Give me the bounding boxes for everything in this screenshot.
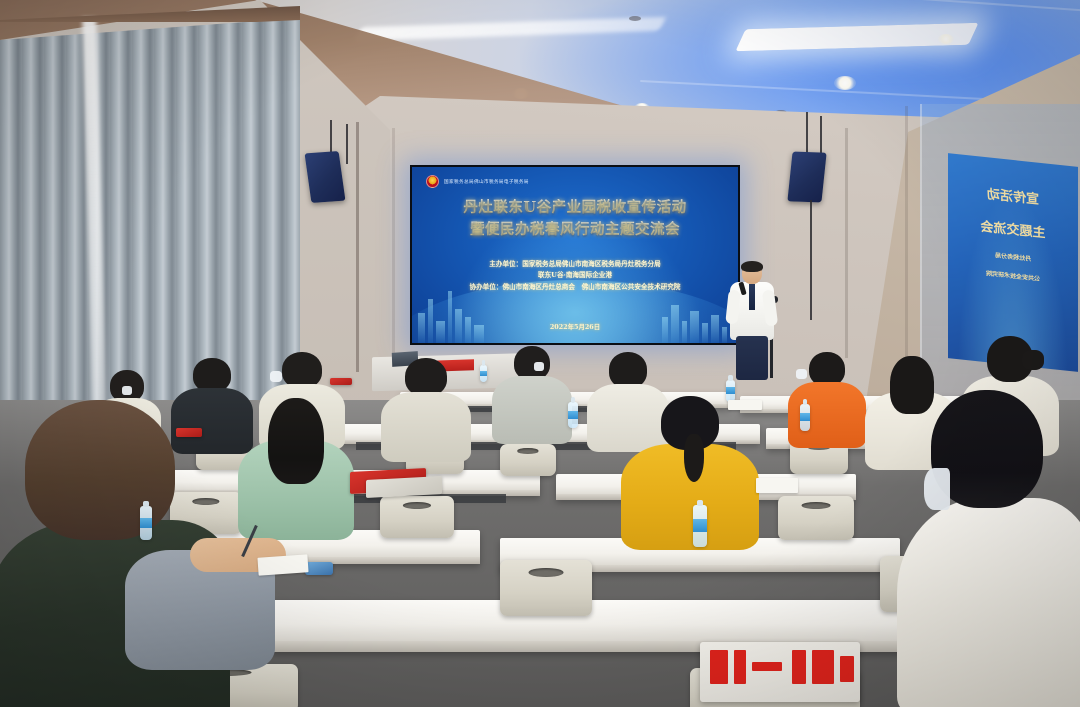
chair (500, 444, 556, 476)
head (282, 352, 322, 388)
conference-room-photo: 国家税务总局佛山市税务局电子税务局 丹灶联东U谷产业园税收宣传活动 暨便民办税春… (0, 0, 1080, 707)
ponytail (684, 434, 704, 482)
reflection-line-2: 主题交流会 (948, 212, 1078, 245)
list-item (900, 390, 1080, 707)
list-item (786, 352, 868, 446)
water-bottle (800, 404, 810, 431)
screen-subtitle-line-1: 主办单位：国家税务总局佛山市南海区税务局丹灶税务分局 (412, 259, 738, 270)
screen-org-logo-text: 国家税务总局佛山市税务局电子税务局 (444, 179, 529, 185)
wall-seam (392, 128, 395, 368)
torso (381, 392, 471, 462)
head (514, 346, 550, 380)
screen-subtitle-line-2: 联东U谷·南海国际企业港 (412, 270, 738, 281)
smoke-detector-icon (629, 16, 641, 21)
head (25, 400, 175, 540)
face-mask (534, 362, 544, 371)
list-item (490, 346, 574, 442)
reflection-line-1: 宣传活动 (948, 179, 1078, 212)
chair (778, 496, 854, 540)
water-bottle (140, 506, 152, 540)
papers (257, 554, 308, 575)
screen-date-text: 2022年5月26日 (412, 322, 738, 331)
head (268, 398, 324, 484)
national-emblem-icon (426, 175, 439, 188)
downlight-icon (938, 34, 954, 44)
led-screen-surface: 国家税务总局佛山市税务局电子税务局 丹灶联东U谷产业园税收宣传活动 暨便民办税春… (412, 167, 738, 343)
head (193, 358, 231, 392)
chair (380, 496, 454, 538)
head (609, 352, 647, 388)
wall-seam (905, 106, 908, 366)
wall-seam (845, 128, 848, 358)
screen-org-logo: 国家税务总局佛山市税务局电子税务局 (426, 175, 529, 188)
speaker-cable (810, 200, 812, 320)
wall-speaker-left (305, 151, 346, 203)
led-presentation-screen: 国家税务总局佛山市税务局电子税务局 丹灶联东U谷产业园税收宣传活动 暨便民办税春… (410, 165, 740, 345)
hair-bun (1022, 350, 1044, 370)
presenter-hair (741, 261, 763, 272)
face-mask (924, 468, 950, 510)
red-folder (330, 378, 352, 385)
wall-speaker-right (787, 152, 826, 203)
papers (728, 400, 762, 410)
water-bottle (568, 402, 578, 428)
event-gift-bag (700, 642, 860, 702)
screen-skyline-graphic (412, 285, 738, 343)
face-mask (796, 369, 807, 379)
screen-subtitle-block: 主办单位：国家税务总局佛山市南海区税务局丹灶税务分局 联东U谷·南海国际企业港 … (412, 259, 738, 293)
water-bottle (693, 505, 707, 547)
wall-seam (356, 122, 359, 372)
presenter (726, 262, 778, 378)
speaker-cable (346, 124, 348, 164)
face-mask (270, 371, 282, 382)
torso (492, 376, 572, 444)
red-folder (176, 428, 202, 437)
screen-title-block: 丹灶联东U谷产业园税收宣传活动 暨便民办税春风行动主题交流会 (412, 197, 738, 242)
screen-title-line-1: 丹灶联东U谷产业园税收宣传活动 (412, 197, 738, 219)
downlight-icon (834, 76, 856, 90)
chair (500, 560, 592, 616)
presenter-trousers (736, 336, 768, 380)
reflection-line-3: 丹灶税务分局 (948, 245, 1078, 268)
head (809, 352, 845, 386)
water-bottle (726, 380, 735, 402)
head (405, 358, 447, 396)
list-item (236, 398, 356, 538)
presenter-tie (749, 284, 755, 310)
papers (756, 478, 798, 493)
smartphone (305, 562, 333, 575)
list-item (620, 396, 760, 546)
screen-title-line-2: 暨便民办税春风行动主题交流会 (412, 219, 738, 241)
reflection-line-4: 公共安全技术研究院 (948, 264, 1078, 287)
face-mask (122, 386, 132, 395)
torso (897, 498, 1080, 707)
water-bottle (480, 365, 487, 382)
screen-subtitle-line-3: 协办单位：佛山市南海区丹灶总商会 佛山市南海区公共安全技术研究院 (412, 282, 738, 293)
list-item (380, 358, 472, 458)
